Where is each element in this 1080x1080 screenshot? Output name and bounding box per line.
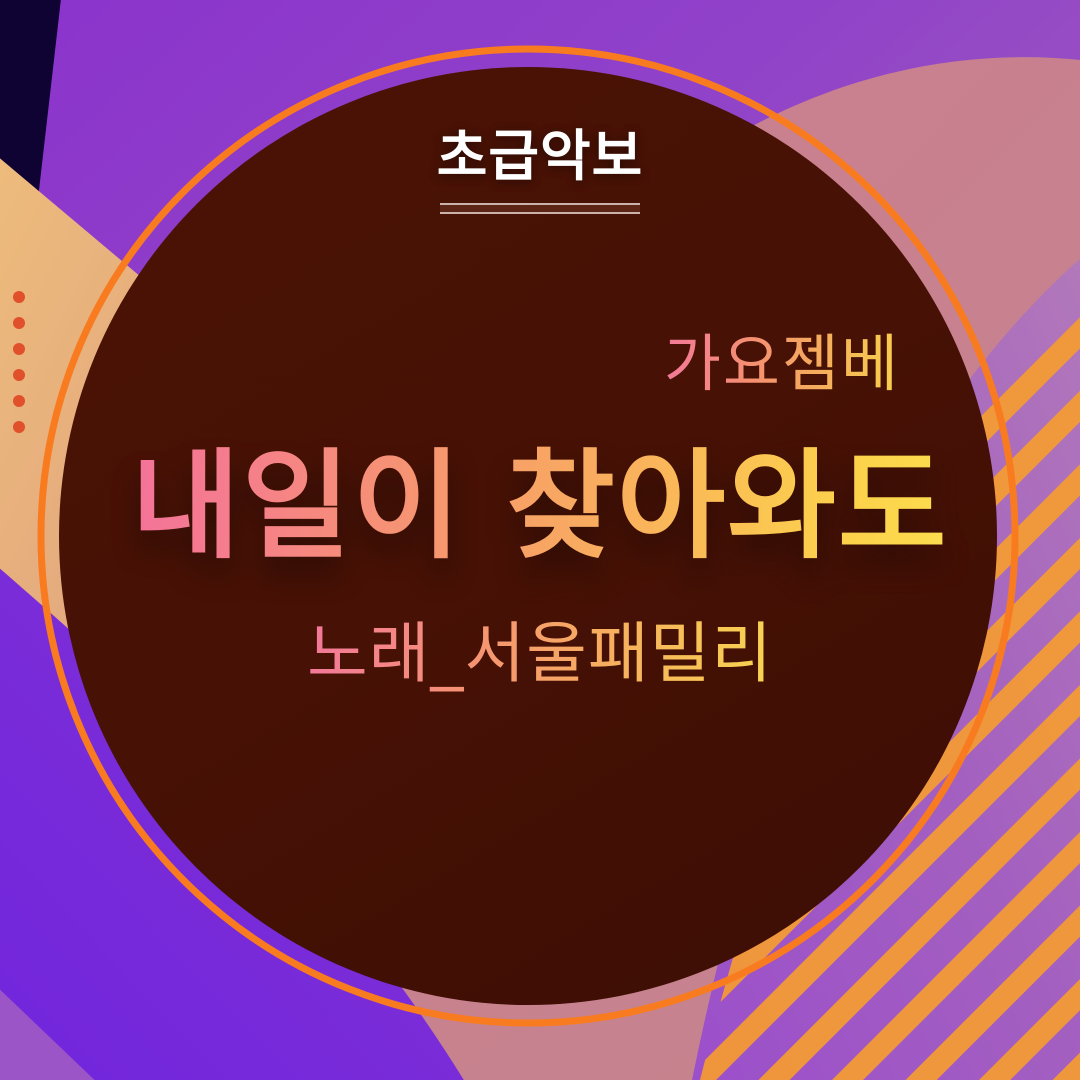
main-title-block: 내일이 찾아와도 내일이 찾아와도: [0, 440, 1080, 572]
kicker-block: 가요젬베: [0, 328, 1080, 399]
credit-block: 노래_서울패밀리: [0, 614, 1080, 693]
eyebrow-divider: [440, 203, 640, 214]
eyebrow-label: 초급악보: [437, 126, 643, 187]
poster-canvas: 초급악보 가요젬베 내일이 찾아와도 내일이 찾아와도 노래_서울패밀리: [0, 0, 1080, 1080]
eyebrow-block: 초급악보: [0, 126, 1080, 214]
kicker-label: 가요젬베: [664, 328, 900, 399]
credit-label: 노래_서울패밀리: [307, 614, 773, 693]
main-title: 내일이 찾아와도: [131, 440, 948, 572]
poster-content: 초급악보 가요젬베 내일이 찾아와도 내일이 찾아와도 노래_서울패밀리: [0, 0, 1080, 1080]
